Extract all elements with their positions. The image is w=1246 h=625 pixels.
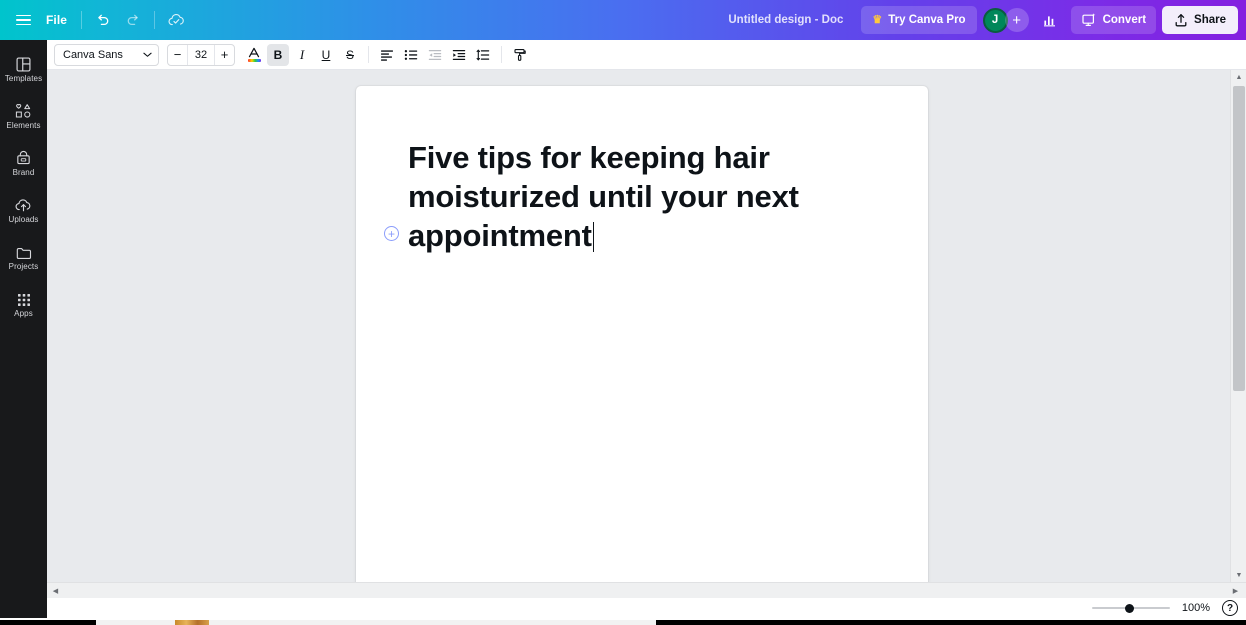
italic-button[interactable]: I xyxy=(291,44,313,66)
help-icon: ? xyxy=(1227,603,1233,614)
analytics-button[interactable] xyxy=(1035,6,1065,34)
text-align-button[interactable] xyxy=(376,44,398,66)
format-painter-icon xyxy=(513,48,527,62)
plus-icon: + xyxy=(1012,13,1021,28)
bottom-bar: 100% ? xyxy=(47,598,1246,618)
hamburger-icon xyxy=(16,15,30,26)
divider xyxy=(501,46,502,63)
apps-grid-icon xyxy=(16,292,32,308)
font-family-dropdown[interactable]: Canva Sans xyxy=(54,44,159,66)
strikethrough-label: S xyxy=(346,48,354,62)
crown-icon: ♛ xyxy=(872,15,882,26)
main-menu-button[interactable] xyxy=(8,6,38,34)
left-sidebar: Templates Elements Brand xyxy=(0,40,47,625)
divider xyxy=(368,46,369,63)
sidebar-item-label: Projects xyxy=(9,263,39,271)
sidebar-item-label: Brand xyxy=(13,169,35,177)
document-title[interactable]: Untitled design - Doc xyxy=(716,14,855,26)
redo-button[interactable] xyxy=(118,6,148,34)
document-page[interactable]: Five tips for keeping hair moisturized u… xyxy=(356,86,928,583)
underline-label: U xyxy=(322,48,331,62)
strikethrough-button[interactable]: S xyxy=(339,44,361,66)
sidebar-item-uploads[interactable]: Uploads xyxy=(0,187,47,234)
sidebar-item-label: Templates xyxy=(5,75,42,83)
sidebar-item-label: Elements xyxy=(6,122,40,130)
share-button[interactable]: Share xyxy=(1162,6,1238,34)
format-painter-button[interactable] xyxy=(509,44,531,66)
bold-button[interactable]: B xyxy=(267,44,289,66)
divider xyxy=(81,11,82,29)
scroll-left-button[interactable]: ◀ xyxy=(48,583,63,599)
increase-indent-button[interactable] xyxy=(448,44,470,66)
scroll-down-button[interactable]: ▼ xyxy=(1231,568,1246,583)
italic-label: I xyxy=(300,47,304,63)
page-title[interactable]: Five tips for keeping hair moisturized u… xyxy=(408,138,808,255)
redo-icon xyxy=(125,12,141,28)
zoom-slider-knob[interactable] xyxy=(1125,604,1134,613)
file-menu-button[interactable]: File xyxy=(38,6,75,34)
convert-button[interactable]: Convert xyxy=(1071,6,1156,34)
folder-icon xyxy=(15,245,33,261)
font-size-input[interactable]: 32 xyxy=(187,45,215,65)
scroll-right-button[interactable]: ▶ xyxy=(1228,583,1243,599)
share-label: Share xyxy=(1194,14,1226,26)
heading-text: Five tips for keeping hair moisturized u… xyxy=(408,140,799,253)
taskbar-thumbnail xyxy=(175,620,209,625)
sidebar-item-apps[interactable]: Apps xyxy=(0,281,47,328)
decrease-indent-icon xyxy=(428,49,442,61)
sidebar-item-brand[interactable]: Brand xyxy=(0,140,47,187)
undo-icon xyxy=(95,12,111,28)
text-color-icon xyxy=(248,47,261,63)
upload-cloud-icon xyxy=(14,197,33,214)
sidebar-item-projects[interactable]: Projects xyxy=(0,234,47,281)
underline-button[interactable]: U xyxy=(315,44,337,66)
avatar[interactable]: J xyxy=(983,8,1008,33)
scroll-up-button[interactable]: ▲ xyxy=(1231,70,1246,85)
try-canva-pro-label: Try Canva Pro xyxy=(888,14,965,26)
line-spacing-button[interactable] xyxy=(472,44,494,66)
cloud-save-status-button[interactable] xyxy=(161,6,191,34)
os-taskbar-strip xyxy=(0,620,1246,625)
circle-plus-icon: + xyxy=(388,228,395,240)
brand-bag-icon xyxy=(15,150,32,167)
horizontal-scrollbar[interactable]: ◀ ▶ xyxy=(47,582,1246,598)
bar-chart-icon xyxy=(1042,12,1058,28)
vertical-scrollbar[interactable]: ▲ ▼ xyxy=(1230,70,1246,583)
bulleted-list-button[interactable] xyxy=(400,44,422,66)
increase-indent-icon xyxy=(452,49,466,61)
line-spacing-icon xyxy=(476,49,490,61)
top-bar: File xyxy=(0,0,1246,40)
cloud-saved-icon xyxy=(167,12,186,29)
decrease-indent-button[interactable] xyxy=(424,44,446,66)
sidebar-item-elements[interactable]: Elements xyxy=(0,93,47,140)
canva-editor-window: File xyxy=(0,0,1246,625)
convert-label: Convert xyxy=(1103,14,1146,26)
add-block-button[interactable]: + xyxy=(384,226,399,241)
text-color-button[interactable] xyxy=(243,44,265,66)
elements-shapes-icon xyxy=(14,103,33,120)
top-bar-left-group: File xyxy=(0,0,191,40)
zoom-level-label[interactable]: 100% xyxy=(1182,602,1210,614)
bulleted-list-icon xyxy=(404,49,418,61)
collaborators-group: J + xyxy=(983,8,1029,33)
add-collaborator-button[interactable]: + xyxy=(1005,8,1029,32)
top-bar-right-group: Untitled design - Doc ♛ Try Canva Pro J … xyxy=(716,0,1246,40)
chevron-down-icon xyxy=(143,52,152,58)
help-button[interactable]: ? xyxy=(1222,600,1238,616)
upload-icon xyxy=(1174,13,1188,28)
text-cursor xyxy=(593,222,595,252)
convert-magic-icon xyxy=(1081,12,1097,28)
try-canva-pro-button[interactable]: ♛ Try Canva Pro xyxy=(861,6,976,34)
zoom-slider[interactable] xyxy=(1092,601,1170,615)
undo-button[interactable] xyxy=(88,6,118,34)
sidebar-item-label: Apps xyxy=(14,310,33,318)
font-family-value: Canva Sans xyxy=(63,49,123,61)
format-toolbar: Canva Sans − 32 + B I U xyxy=(47,40,1246,70)
align-left-icon xyxy=(380,49,394,61)
sidebar-item-templates[interactable]: Templates xyxy=(0,46,47,93)
divider xyxy=(154,11,155,29)
font-size-stepper: − 32 + xyxy=(167,44,235,66)
sidebar-item-label: Uploads xyxy=(8,216,38,224)
canvas-area[interactable]: Five tips for keeping hair moisturized u… xyxy=(47,70,1230,583)
font-size-increase-button[interactable]: + xyxy=(215,45,234,65)
font-size-decrease-button[interactable]: − xyxy=(168,45,187,65)
vertical-scrollbar-thumb[interactable] xyxy=(1233,86,1245,391)
bold-label: B xyxy=(274,48,283,62)
templates-icon xyxy=(15,56,32,73)
